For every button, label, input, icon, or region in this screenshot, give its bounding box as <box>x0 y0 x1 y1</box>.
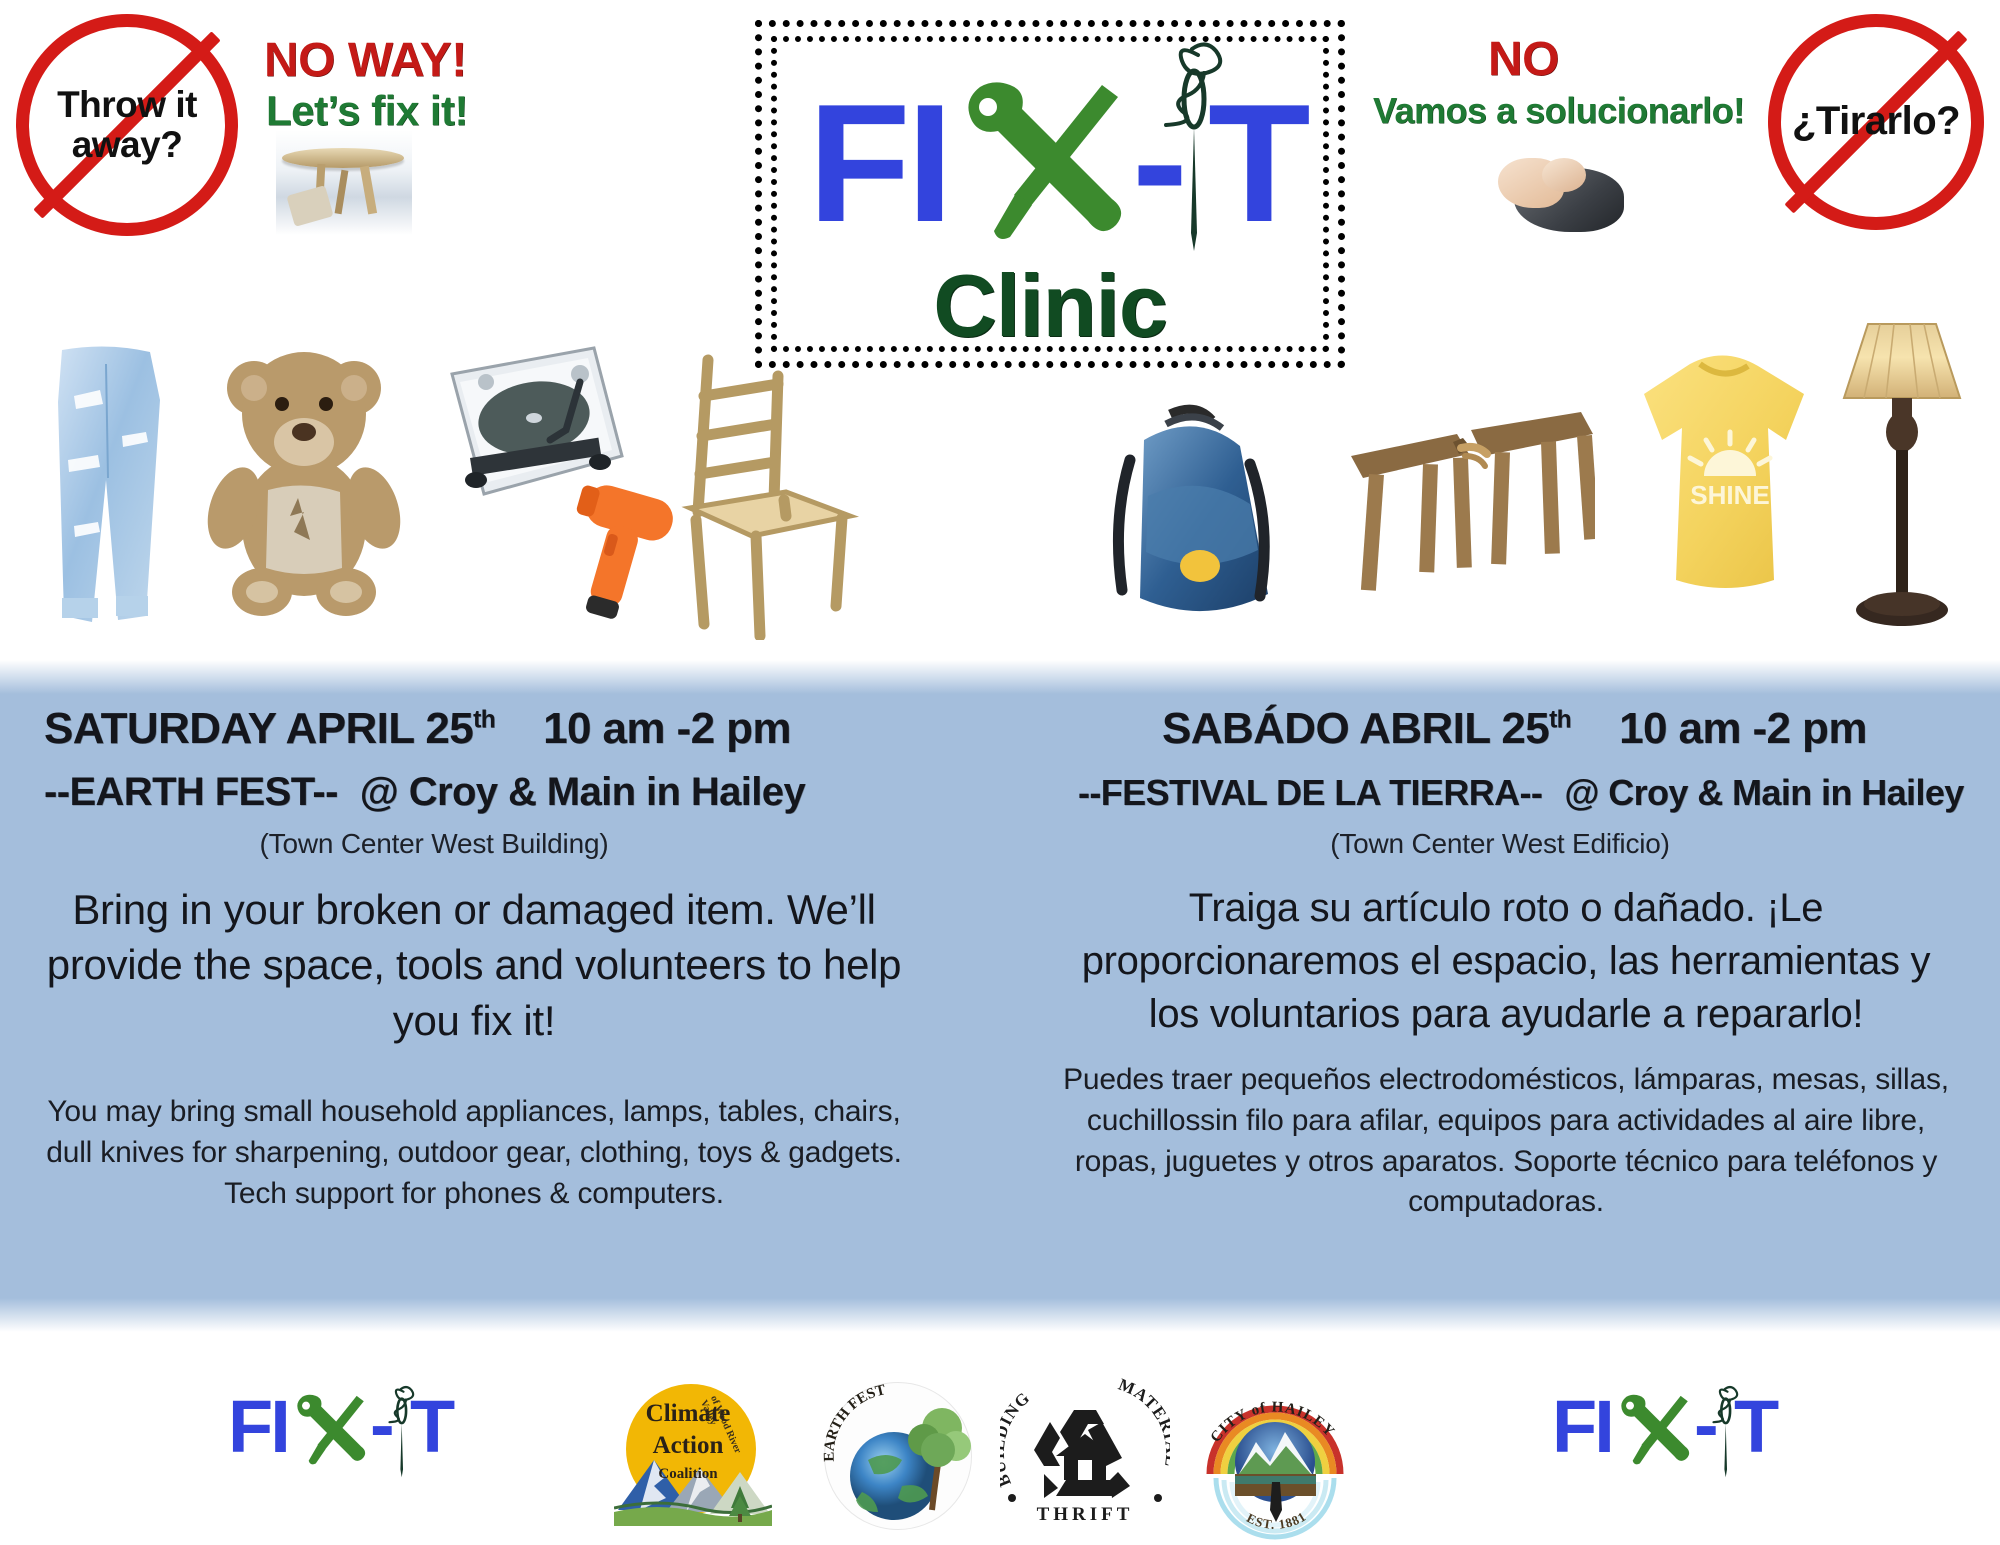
spanish-lead-paragraph: Traiga su artículo roto o dañado. ¡Le pr… <box>1056 882 1956 1040</box>
english-date-suffix: th <box>473 706 495 733</box>
building-material-thrift-logo: BUILDING MATERIAL THRIFT <box>1000 1376 1170 1536</box>
fixit-logo-left: FI - T <box>228 1390 528 1490</box>
broken-wooden-table-photo <box>1345 400 1595 610</box>
spanish-headline-line-2: --FESTIVAL DE LA TIERRA--@ Croy & Main i… <box>1078 772 1964 814</box>
no-entry-icon-throw-it-away: Throw it away? <box>16 14 238 236</box>
yellow-shine-tshirt-photo: SHINE <box>1634 348 1814 598</box>
slogan-lets-fix-it: Let’s fix it! <box>266 87 468 135</box>
footer-left-logo-t: T <box>410 1390 455 1464</box>
crossed-wrench-screwdriver-icon-right <box>1614 1393 1694 1469</box>
svg-text:BUILDING: BUILDING <box>1000 1388 1034 1490</box>
english-date: SATURDAY APRIL 25 <box>44 704 473 753</box>
ripped-jeans-photo <box>22 340 192 630</box>
footer-right-logo-fi: FI <box>1552 1390 1612 1464</box>
crossed-wrench-screwdriver-icon <box>952 79 1132 249</box>
thrift-arc-right: MATERIAL <box>1116 1376 1170 1469</box>
thrift-bottom-text: THRIFT <box>1037 1504 1134 1525</box>
slogan-no-way: NO WAY! <box>264 33 467 88</box>
fix-it-logo: FI - <box>762 27 1338 361</box>
no-sign-line-1: Throw it <box>29 85 225 125</box>
spanish-location: @ Croy & Main in Hailey <box>1564 772 1963 813</box>
english-lead-paragraph: Bring in your broken or damaged item. We… <box>46 882 902 1048</box>
earth-fest-logo: EARTH FEST <box>818 1376 978 1536</box>
broken-table-photo <box>276 130 412 235</box>
english-venue: (Town Center West Building) <box>44 828 824 860</box>
spanish-date: SABÁDO ABRIL 25 <box>1162 704 1549 753</box>
footer-left-logo-fi: FI <box>228 1390 288 1464</box>
city-of-hailey-logo: CITY of HAILEY EST. 1881 <box>1190 1370 1360 1540</box>
sponsor-row: FI - T <box>0 1370 2000 1545</box>
thrift-arc-left: BUILDING <box>1000 1388 1034 1490</box>
teddy-bear-photo <box>206 330 402 630</box>
orange-hair-dryer-photo <box>556 480 676 640</box>
spanish-event-name: --FESTIVAL DE LA TIERRA-- <box>1078 772 1542 813</box>
svg-text:MATERIAL: MATERIAL <box>1116 1376 1170 1469</box>
english-time: 10 am -2 pm <box>543 704 791 753</box>
english-location: @ Croy & Main in Hailey <box>360 770 805 814</box>
spanish-details-paragraph: Puedes traer pequeños electrodomésticos,… <box>1056 1060 1956 1223</box>
no-sign-2-line-1: ¿Tirarlo? <box>1781 100 1971 143</box>
event-info-band: SATURDAY APRIL 25th10 am -2 pm --EARTH F… <box>0 660 2000 1332</box>
tshirt-graphic-text: SHINE <box>1690 480 1769 510</box>
english-column: SATURDAY APRIL 25th10 am -2 pm --EARTH F… <box>0 660 1000 1332</box>
earth-globe-tree-icon: EARTH FEST <box>818 1376 978 1536</box>
floor-lamp-photo <box>1832 310 1972 640</box>
english-details-paragraph: You may bring small household appliances… <box>44 1092 904 1214</box>
spanish-headline-line-1: SABÁDO ABRIL 25th10 am -2 pm <box>1162 704 1867 754</box>
fix-it-clinic-logo-frame: FI - <box>755 20 1345 368</box>
logo-letter-t: T <box>1208 79 1311 247</box>
blue-backpack-photo <box>1100 400 1290 630</box>
english-event-name: --EARTH FEST-- <box>44 770 338 814</box>
hands-mending-cloth-photo <box>1490 140 1640 236</box>
spanish-venue: (Town Center West Edificio) <box>1060 828 1940 860</box>
recycling-triangle-house-icon: BUILDING MATERIAL THRIFT <box>1000 1376 1170 1536</box>
english-headline-line-1: SATURDAY APRIL 25th10 am -2 pm <box>44 704 791 754</box>
footer-right-logo-t: T <box>1734 1390 1779 1464</box>
climate-action-coalition-logo: Climate Action Coalition of Wood River V… <box>606 1378 776 1538</box>
logo-letters-fi: FI <box>808 79 949 247</box>
no-sign-line-2: away? <box>29 125 225 165</box>
spanish-date-suffix: th <box>1549 706 1571 733</box>
crossed-wrench-screwdriver-icon-left <box>290 1393 370 1469</box>
wooden-chair-photo <box>660 340 860 640</box>
spanish-column: SABÁDO ABRIL 25th10 am -2 pm --FESTIVAL … <box>1000 660 2000 1332</box>
english-headline-line-2: --EARTH FEST--@ Croy & Main in Hailey <box>44 770 805 815</box>
slogan-no: NO <box>1488 32 1559 87</box>
no-entry-icon-tirarlo: ¿Tirarlo? <box>1768 14 1984 230</box>
fix-it-clinic-poster: Throw it away? NO WAY! Let’s fix it! FI <box>0 0 2000 1545</box>
spanish-time: 10 am -2 pm <box>1619 704 1867 753</box>
fixit-logo-right: FI - T <box>1552 1390 1852 1490</box>
rainbow-mountain-idaho-seal-icon: CITY of HAILEY EST. 1881 <box>1190 1370 1360 1540</box>
slogan-vamos-a-solucionarlo: Vamos a solucionarlo! <box>1373 90 1745 132</box>
